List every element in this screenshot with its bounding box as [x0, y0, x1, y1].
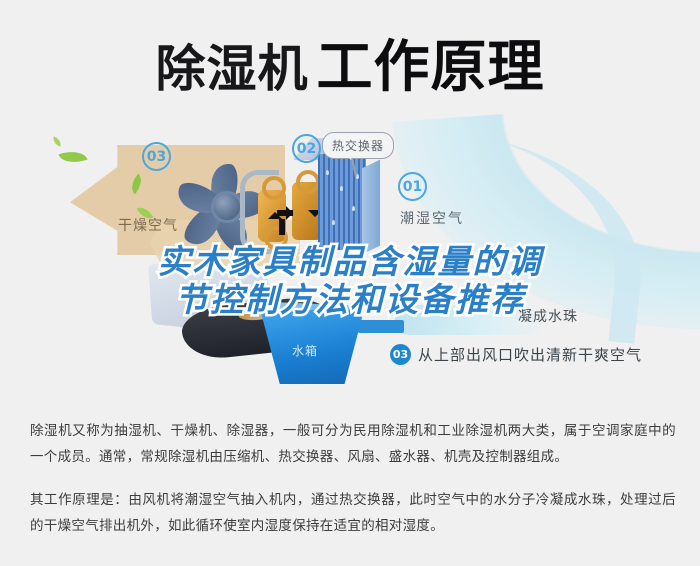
badge-03: 03 — [142, 142, 171, 171]
heat-exchanger-callout: 热交换器 — [322, 132, 394, 159]
note-03: 03 从上部出风口吹出清新干爽空气 — [390, 344, 642, 365]
dehumidifier-diagram: 水箱 01 02 03 热交换器 潮湿空气 干燥空气 凝成水珠 03 从上部出风… — [0, 120, 700, 400]
page-title: 除湿机工作原理 — [0, 22, 700, 103]
title-part-b: 工作原理 — [317, 35, 545, 100]
title-part-a: 除湿机 — [156, 40, 309, 98]
article-body: 除湿机又称为抽湿机、干燥机、除湿器，一般可分为民用除湿机和工业除湿机两大类，属于… — [30, 418, 676, 555]
body-paragraph-2: 其工作原理是：由风机将潮湿空气抽入机内，通过热交换器，此时空气中的水分子冷凝成水… — [30, 487, 676, 540]
leaf-icon — [51, 136, 63, 147]
air-intake-arrow-icon — [358, 320, 404, 333]
dry-air-label: 干燥空气 — [118, 215, 178, 235]
water-tank-label: 水箱 — [292, 342, 318, 359]
arrow-up-icon — [268, 212, 282, 219]
condensation-label: 凝成水珠 — [518, 306, 578, 326]
badge-01: 01 — [398, 172, 427, 201]
badge-02: 02 — [292, 134, 321, 163]
note-03-text: 从上部出风口吹出清新干爽空气 — [418, 344, 642, 365]
infographic-page: 除湿机工作原理 — [0, 0, 700, 566]
arrow-right-icon — [286, 206, 293, 220]
humid-air-label: 潮湿空气 — [400, 208, 464, 228]
leaf-icon — [58, 146, 87, 167]
body-paragraph-1: 除湿机又称为抽湿机、干燥机、除湿器，一般可分为民用除湿机和工业除湿机两大类，属于… — [30, 418, 676, 471]
note-03-badge: 03 — [390, 344, 411, 365]
